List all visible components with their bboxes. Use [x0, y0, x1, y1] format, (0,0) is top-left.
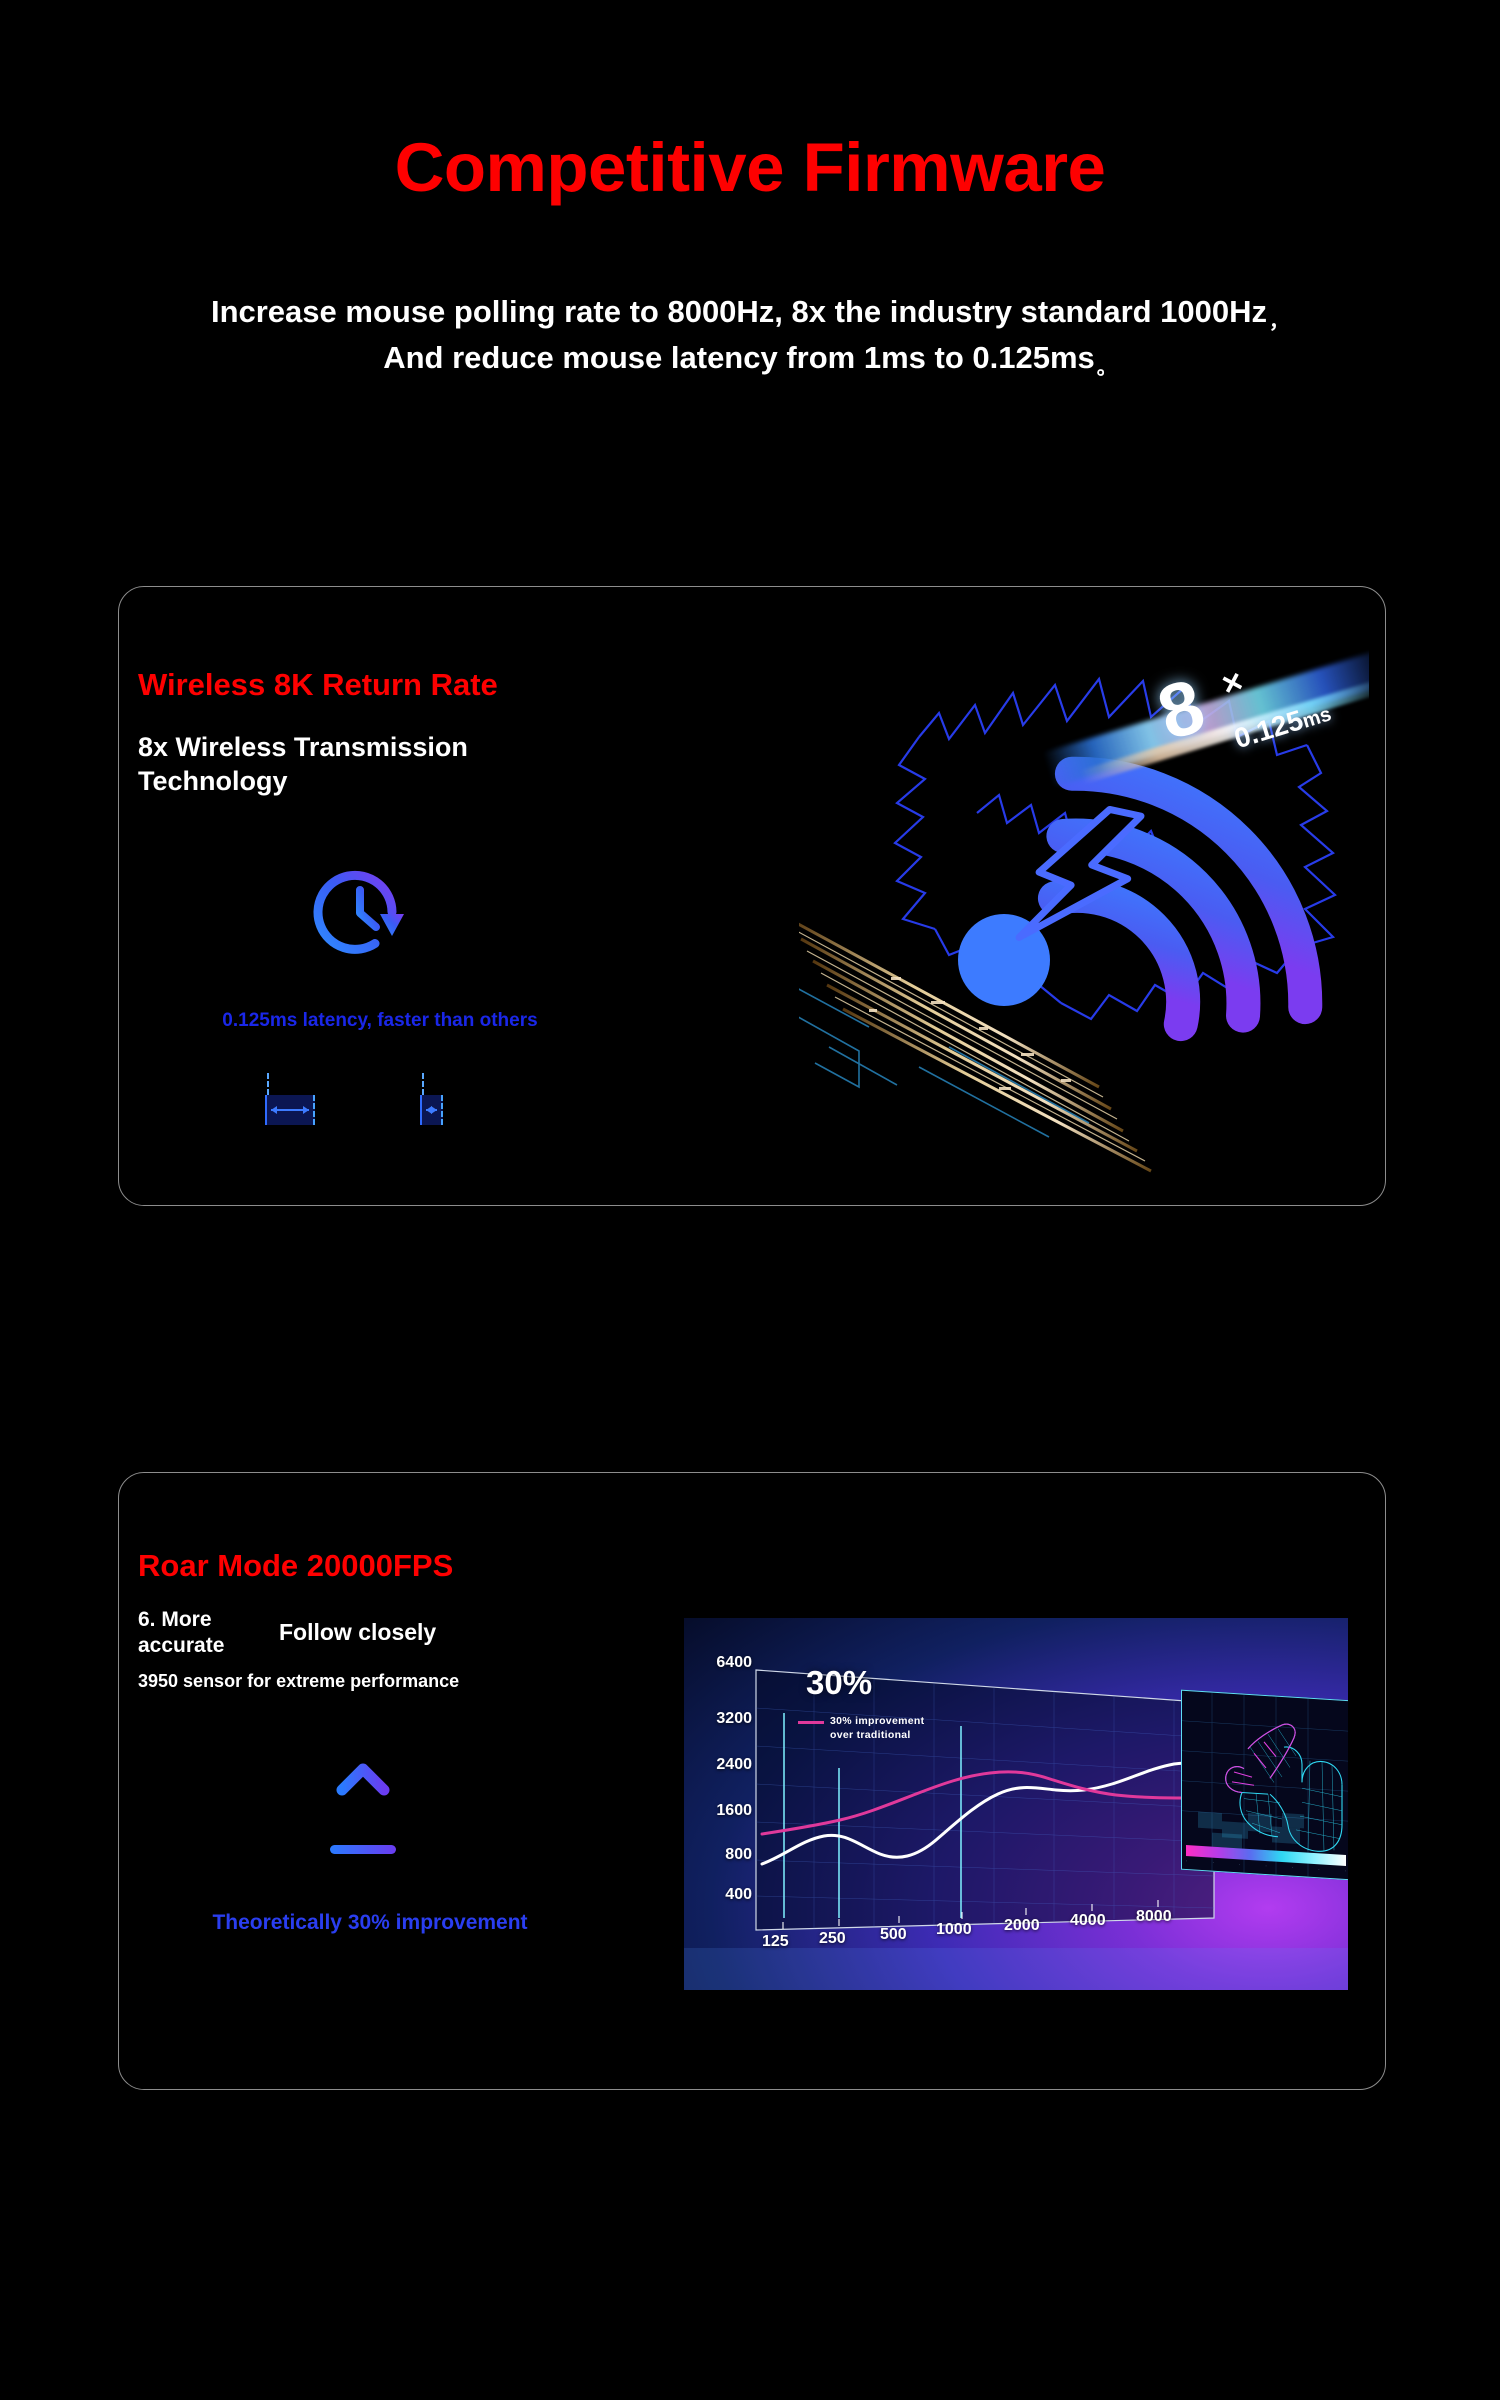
- x-tick-500: 500: [880, 1926, 907, 1944]
- clock-rotate-icon: [305, 857, 415, 967]
- polling-tick: [384, 1058, 393, 1096]
- page-title: Competitive Firmware: [0, 128, 1500, 207]
- polling-tick: [225, 1058, 234, 1096]
- y-tick-1600: 1600: [690, 1802, 752, 1820]
- chart-stage: 6400 3200 2400 1600 800 400 125 250 500 …: [684, 1618, 1348, 1990]
- polling-tick: [299, 1058, 308, 1096]
- polling-tick: [521, 1058, 530, 1096]
- roar-label-accurate: 6. More accurate: [138, 1607, 224, 1658]
- polling-block: [345, 1122, 420, 1162]
- subtitle-line-1-text: Increase mouse polling rate to 8000Hz, 8…: [211, 294, 1267, 329]
- polling-tick: [426, 1058, 435, 1096]
- polling-tick: [289, 1058, 298, 1096]
- polling-tick: [500, 1058, 509, 1096]
- gap-arrow-narrow: [426, 1109, 437, 1111]
- page-subtitle: Increase mouse polling rate to 8000Hz, 8…: [0, 290, 1500, 383]
- polling-tick: [341, 1058, 350, 1096]
- hand-thumb-highlight: [1226, 1720, 1295, 1796]
- improvement-caption: Theoretically 30% improvement: [120, 1911, 620, 1935]
- legend-swatch-magenta: [798, 1721, 824, 1724]
- latency-gap-marker-wide: [265, 1095, 315, 1125]
- wireless-artwork: 8 × 0.125ms: [799, 617, 1369, 1177]
- gap-arrow-wide: [271, 1109, 309, 1111]
- subtitle-period: 。: [1095, 357, 1117, 379]
- roar-sensor-text: 3950 sensor for extreme performance: [138, 1671, 459, 1692]
- chart-floor-reflection: [684, 1948, 1348, 1990]
- polling-tick: [510, 1058, 519, 1096]
- polling-tick: [553, 1058, 562, 1096]
- chart-headline-percent: 30%: [806, 1664, 872, 1702]
- polling-block: [427, 1122, 502, 1162]
- y-tick-400: 400: [690, 1886, 752, 1904]
- arrow-up-icon: [320, 1757, 406, 1861]
- y-tick-800: 800: [690, 1846, 752, 1864]
- x-tick-8000: 8000: [1136, 1908, 1172, 1926]
- gap-dash-top: [422, 1073, 424, 1095]
- polling-tick: [352, 1058, 361, 1096]
- legend-label: 30% improvement over traditional: [830, 1714, 924, 1742]
- y-tick-6400: 6400: [690, 1654, 752, 1672]
- polling-tick: [204, 1058, 213, 1096]
- polling-tick: [479, 1058, 488, 1096]
- roar-label-follow: Follow closely: [279, 1619, 436, 1646]
- polling-rate-8k-strip: [183, 1058, 583, 1096]
- gap-dash-top: [267, 1073, 269, 1095]
- polling-rate-1k-strip: [183, 1122, 583, 1162]
- card-wireless-title: Wireless 8K Return Rate: [138, 667, 498, 703]
- polling-tick: [447, 1058, 456, 1096]
- polling-tick: [183, 1058, 192, 1096]
- latency-gap-marker-narrow: [420, 1095, 443, 1125]
- card-roar-title: Roar Mode 20000FPS: [138, 1548, 453, 1584]
- polling-block: [183, 1122, 258, 1162]
- subtitle-comma: ，: [1267, 311, 1289, 333]
- x-tick-1000: 1000: [936, 1921, 972, 1939]
- polling-tick: [278, 1058, 287, 1096]
- polling-tick: [468, 1058, 477, 1096]
- polling-tick: [215, 1058, 224, 1096]
- x-tick-125: 125: [762, 1933, 789, 1951]
- polling-tick: [331, 1058, 340, 1096]
- polling-tick: [320, 1058, 329, 1096]
- polling-tick: [373, 1058, 382, 1096]
- y-tick-3200: 3200: [690, 1710, 752, 1728]
- polling-tick: [489, 1058, 498, 1096]
- polling-tick: [574, 1058, 583, 1096]
- performance-chart: 6400 3200 2400 1600 800 400 125 250 500 …: [684, 1618, 1348, 1990]
- polling-tick: [394, 1058, 403, 1096]
- x-tick-2000: 2000: [1004, 1917, 1040, 1935]
- x-tick-4000: 4000: [1070, 1912, 1106, 1930]
- card-wireless-subtitle: 8x Wireless Transmission Technology: [138, 731, 468, 799]
- polling-tick: [563, 1058, 572, 1096]
- polling-tick: [458, 1058, 467, 1096]
- polling-tick: [532, 1058, 541, 1096]
- latency-caption: 0.125ms latency, faster than others: [180, 1010, 580, 1032]
- subtitle-line-2-text: And reduce mouse latency from 1ms to 0.1…: [383, 340, 1095, 375]
- subtitle-line-1: Increase mouse polling rate to 8000Hz, 8…: [0, 290, 1500, 336]
- badge-latency-unit: ms: [1300, 703, 1334, 732]
- wireframe-hand-panel: ·· ·· ·· ·: [1181, 1690, 1348, 1881]
- polling-tick: [310, 1058, 319, 1096]
- polling-tick: [246, 1058, 255, 1096]
- polling-block: [264, 1122, 339, 1162]
- polling-tick: [236, 1058, 245, 1096]
- polling-tick: [405, 1058, 414, 1096]
- polling-tick: [257, 1058, 266, 1096]
- subtitle-line-2: And reduce mouse latency from 1ms to 0.1…: [0, 336, 1500, 382]
- polling-tick: [194, 1058, 203, 1096]
- chart-legend: 30% improvement over traditional: [798, 1714, 924, 1742]
- inset-heat-blocks: [1198, 1808, 1304, 1853]
- x-tick-250: 250: [819, 1930, 846, 1948]
- polling-tick: [437, 1058, 446, 1096]
- polling-tick: [363, 1058, 372, 1096]
- polling-tick: [542, 1058, 551, 1096]
- polling-block: [508, 1122, 583, 1162]
- y-tick-2400: 2400: [690, 1756, 752, 1774]
